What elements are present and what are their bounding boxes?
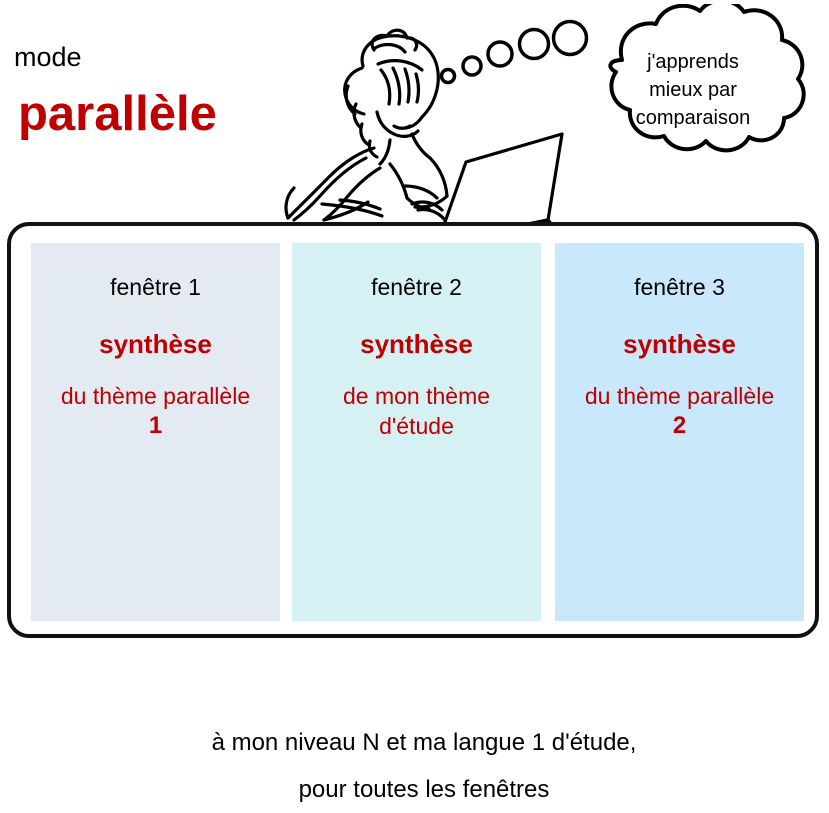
mode-title: parallèle	[18, 86, 217, 142]
window-panel-3[interactable]: fenêtre 3 synthèse du thème parallèle 2	[555, 243, 804, 621]
panel-2-synthesis: synthèse	[292, 329, 541, 359]
header-area: mode parallèle	[0, 0, 829, 222]
panel-2-description: de mon thème d'étude	[292, 381, 541, 441]
caption-line-1: à mon niveau N et ma langue 1 d'étude,	[18, 719, 829, 766]
bubble-line-1: j'apprends	[647, 48, 739, 76]
bubble-line-2: mieux par	[649, 76, 737, 104]
panel-1-synthesis: synthèse	[31, 329, 280, 359]
caption-line-2: pour toutes les fenêtres	[18, 766, 829, 813]
panel-3-description-text: du thème parallèle	[585, 383, 774, 409]
panel-1-description: du thème parallèle 1	[31, 381, 280, 441]
panel-2-description-line-2: d'étude	[292, 411, 541, 441]
thought-bubble: j'apprends mieux par comparaison	[560, 4, 826, 172]
panel-3-number: 2	[555, 411, 804, 441]
thought-bubble-text: j'apprends mieux par comparaison	[560, 4, 826, 172]
shared-caption: à mon niveau N et ma langue 1 d'étude, p…	[18, 719, 829, 813]
mode-label: mode	[14, 42, 82, 73]
window-panel-2[interactable]: fenêtre 2 synthèse de mon thème d'étude	[292, 243, 541, 621]
main-frame: fenêtre 1 synthèse du thème parallèle 1 …	[7, 222, 819, 638]
window-panels: fenêtre 1 synthèse du thème parallèle 1 …	[31, 243, 803, 621]
panel-1-title: fenêtre 1	[31, 273, 280, 301]
panel-2-description-text: de mon thème	[343, 383, 490, 409]
panel-3-description: du thème parallèle 2	[555, 381, 804, 441]
panel-3-title: fenêtre 3	[555, 273, 804, 301]
panel-3-synthesis: synthèse	[555, 329, 804, 359]
panel-1-number: 1	[31, 411, 280, 441]
window-panel-1[interactable]: fenêtre 1 synthèse du thème parallèle 1	[31, 243, 280, 621]
panel-1-description-text: du thème parallèle	[61, 383, 250, 409]
panel-2-title: fenêtre 2	[292, 273, 541, 301]
bubble-line-3: comparaison	[636, 104, 751, 132]
